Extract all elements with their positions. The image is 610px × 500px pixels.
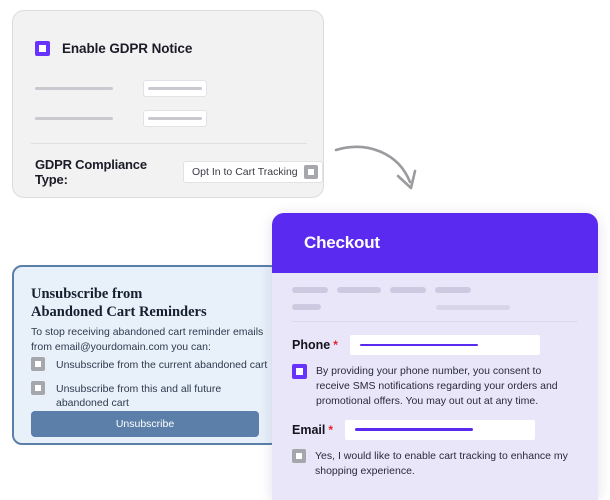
form-spacer [292,409,578,420]
unsubscribe-title-line1: Unsubscribe from [31,286,142,302]
unsubscribe-option-label: Unsubscribe from the current abandoned c… [56,357,267,372]
phone-required-marker: * [333,338,338,352]
sms-consent-text: By providing your phone number, you cons… [316,364,578,409]
checkbox-gray-icon[interactable] [292,449,306,463]
cart-tracking-consent-row[interactable]: Yes, I would like to enable cart trackin… [292,449,578,479]
enable-gdpr-notice-row[interactable]: Enable GDPR Notice [35,41,192,56]
unsubscribe-button[interactable]: Unsubscribe [31,411,259,437]
placeholder-label-bar [35,117,113,120]
curved-arrow-icon [332,138,432,200]
placeholder-input-bar [148,87,202,90]
unsubscribe-title: Unsubscribe from Abandoned Cart Reminder… [31,286,261,321]
cart-tracking-consent-text: Yes, I would like to enable cart trackin… [315,449,578,479]
checkout-placeholder-block [272,273,598,310]
checkout-placeholder-row-top [292,287,598,293]
gdpr-settings-card: Enable GDPR Notice GDPR Compliance Type:… [12,10,324,198]
placeholder-bar [390,287,426,293]
placeholder-field-row [35,73,303,103]
checkout-card: Checkout Phone * By provi [272,213,598,500]
email-field-label: Email [292,423,325,437]
enable-gdpr-notice-label: Enable GDPR Notice [62,41,192,56]
email-input[interactable] [345,420,535,440]
placeholder-bar [292,304,321,310]
unsubscribe-body-text: To stop receiving abandoned cart reminde… [31,325,267,355]
placeholder-input-bar [148,117,202,120]
email-field-row: Email * [292,420,578,440]
phone-input[interactable] [350,335,540,355]
checkbox-gray-icon[interactable] [31,381,45,395]
email-required-marker: * [328,423,333,437]
placeholder-label-bar [35,87,113,90]
gdpr-compliance-type-row: GDPR Compliance Type: Opt In to Cart Tra… [35,157,323,187]
unsubscribe-option-current[interactable]: Unsubscribe from the current abandoned c… [31,357,273,372]
placeholder-input-box[interactable] [143,80,207,97]
checkbox-checked-purple-icon[interactable] [292,364,307,379]
checkout-header: Checkout [272,213,598,273]
sms-consent-row[interactable]: By providing your phone number, you cons… [292,364,578,409]
gdpr-compliance-type-value: Opt In to Cart Tracking [192,166,298,178]
email-input-value-bar [355,428,473,431]
placeholder-input-box[interactable] [143,110,207,127]
checkbox-checked-purple-icon[interactable] [35,41,50,56]
unsubscribe-title-line2: Abandoned Cart Reminders [31,304,207,320]
gdpr-placeholder-fields [35,73,303,133]
unsubscribe-card: Unsubscribe from Abandoned Cart Reminder… [12,265,280,445]
gdpr-compliance-type-select[interactable]: Opt In to Cart Tracking [183,161,323,183]
phone-field-row: Phone * [292,335,578,355]
placeholder-field-row [35,103,303,133]
placeholder-bar [435,287,471,293]
checkout-placeholder-row-second [292,304,598,310]
gdpr-card-divider [31,143,307,144]
unsubscribe-option-all-future[interactable]: Unsubscribe from this and all future aba… [31,381,273,410]
placeholder-bar [292,287,328,293]
unsubscribe-option-label: Unsubscribe from this and all future aba… [56,381,273,410]
phone-input-value-bar [360,344,478,347]
placeholder-bar [337,287,381,293]
gdpr-compliance-type-label: GDPR Compliance Type: [35,157,173,187]
screenshot-canvas: Enable GDPR Notice GDPR Compliance Type:… [0,0,610,500]
checkout-title: Checkout [304,233,380,253]
placeholder-bar [436,305,510,310]
dropdown-square-icon[interactable] [304,165,318,179]
phone-field-label: Phone [292,338,330,352]
checkbox-gray-icon[interactable] [31,357,45,371]
checkout-form: Phone * By providing your phone number, … [272,322,598,479]
